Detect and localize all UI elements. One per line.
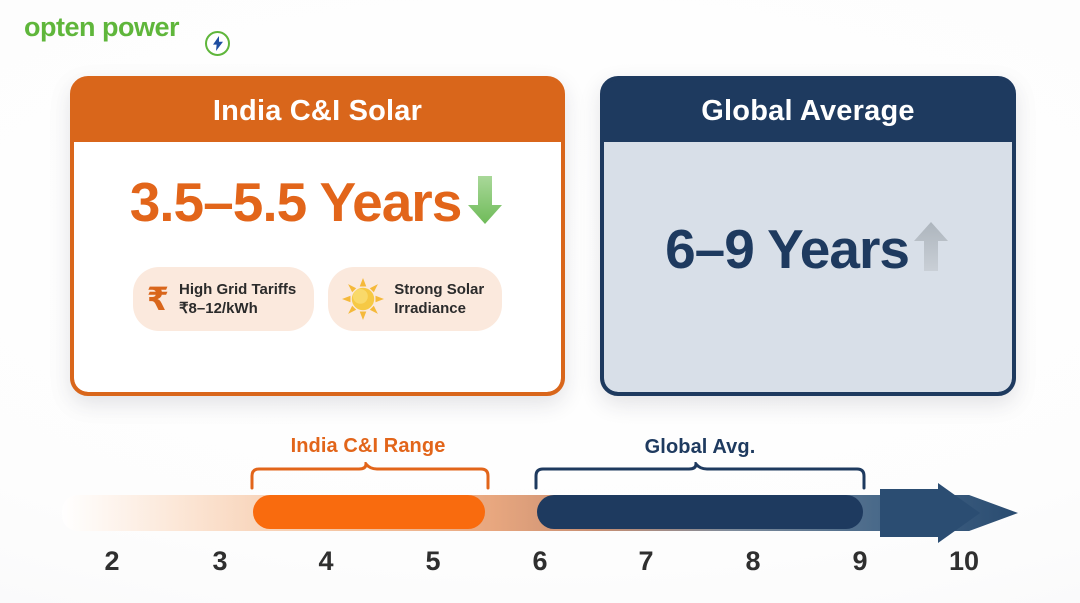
- card-header-global: Global Average: [604, 80, 1012, 142]
- india-payback-value: 3.5–5.5 Years: [130, 175, 462, 230]
- brand-name: opten power: [24, 14, 179, 41]
- badge-tariffs-line1: High Grid Tariffs: [179, 281, 296, 298]
- tick-8: 8: [727, 546, 779, 577]
- scale-label-india: India C&I Range: [248, 435, 488, 458]
- badge-strong-solar-irradiance: Strong Solar Irradiance: [328, 267, 502, 331]
- card-india-ci-solar: India C&I Solar 3.5–5.5 Years: [70, 76, 565, 396]
- comparison-cards: India C&I Solar 3.5–5.5 Years: [0, 72, 1080, 392]
- tick-7: 7: [620, 546, 672, 577]
- brace-india: [248, 462, 492, 490]
- scale-label-global: Global Avg.: [540, 436, 860, 459]
- badge-tariffs-line2: ₹8–12/kWh: [179, 300, 258, 317]
- tick-5: 5: [407, 546, 459, 577]
- range-bar-global: [537, 495, 863, 529]
- tick-9: 9: [834, 546, 886, 577]
- range-bar-india: [253, 495, 485, 529]
- arrow-down-icon: [465, 172, 505, 233]
- card-global-average: Global Average 6–9 Years: [600, 76, 1016, 396]
- card-body-global: 6–9 Years: [604, 142, 1012, 392]
- infographic-canvas: opten power India C&I Solar 3.5–5.5 Year…: [0, 0, 1080, 603]
- badge-irradiance-line1: Strong Solar: [394, 281, 484, 298]
- badge-high-grid-tariffs: ₹ High Grid Tariffs ₹8–12/kWh: [133, 267, 315, 331]
- brace-global: [532, 462, 868, 490]
- payback-scale: India C&I Range Global Avg.: [0, 420, 1080, 603]
- global-payback-value: 6–9 Years: [665, 222, 909, 277]
- arrow-right-icon: [880, 483, 1020, 543]
- scale-ticks: 2 3 4 5 6 7 8 9 10: [0, 546, 1080, 592]
- card-title-india: India C&I Solar: [213, 95, 422, 128]
- badge-text-tariffs: High Grid Tariffs ₹8–12/kWh: [179, 280, 296, 318]
- lightning-bolt-icon: [205, 31, 230, 56]
- brand-logo: opten power: [24, 14, 179, 41]
- tick-3: 3: [194, 546, 246, 577]
- sun-icon: [342, 278, 384, 320]
- card-title-global: Global Average: [701, 95, 914, 128]
- tick-10: 10: [938, 546, 990, 577]
- india-highlight-badges: ₹ High Grid Tariffs ₹8–12/kWh: [133, 267, 503, 331]
- arrow-up-icon: [911, 219, 951, 280]
- tick-6: 6: [514, 546, 566, 577]
- card-header-india: India C&I Solar: [74, 80, 561, 142]
- rupee-icon: ₹: [147, 283, 169, 315]
- tick-4: 4: [300, 546, 352, 577]
- tick-2: 2: [86, 546, 138, 577]
- badge-text-irradiance: Strong Solar Irradiance: [394, 280, 484, 318]
- card-body-india: 3.5–5.5 Years: [74, 142, 561, 392]
- badge-irradiance-line2: Irradiance: [394, 300, 466, 317]
- india-value-row: 3.5–5.5 Years: [130, 172, 506, 233]
